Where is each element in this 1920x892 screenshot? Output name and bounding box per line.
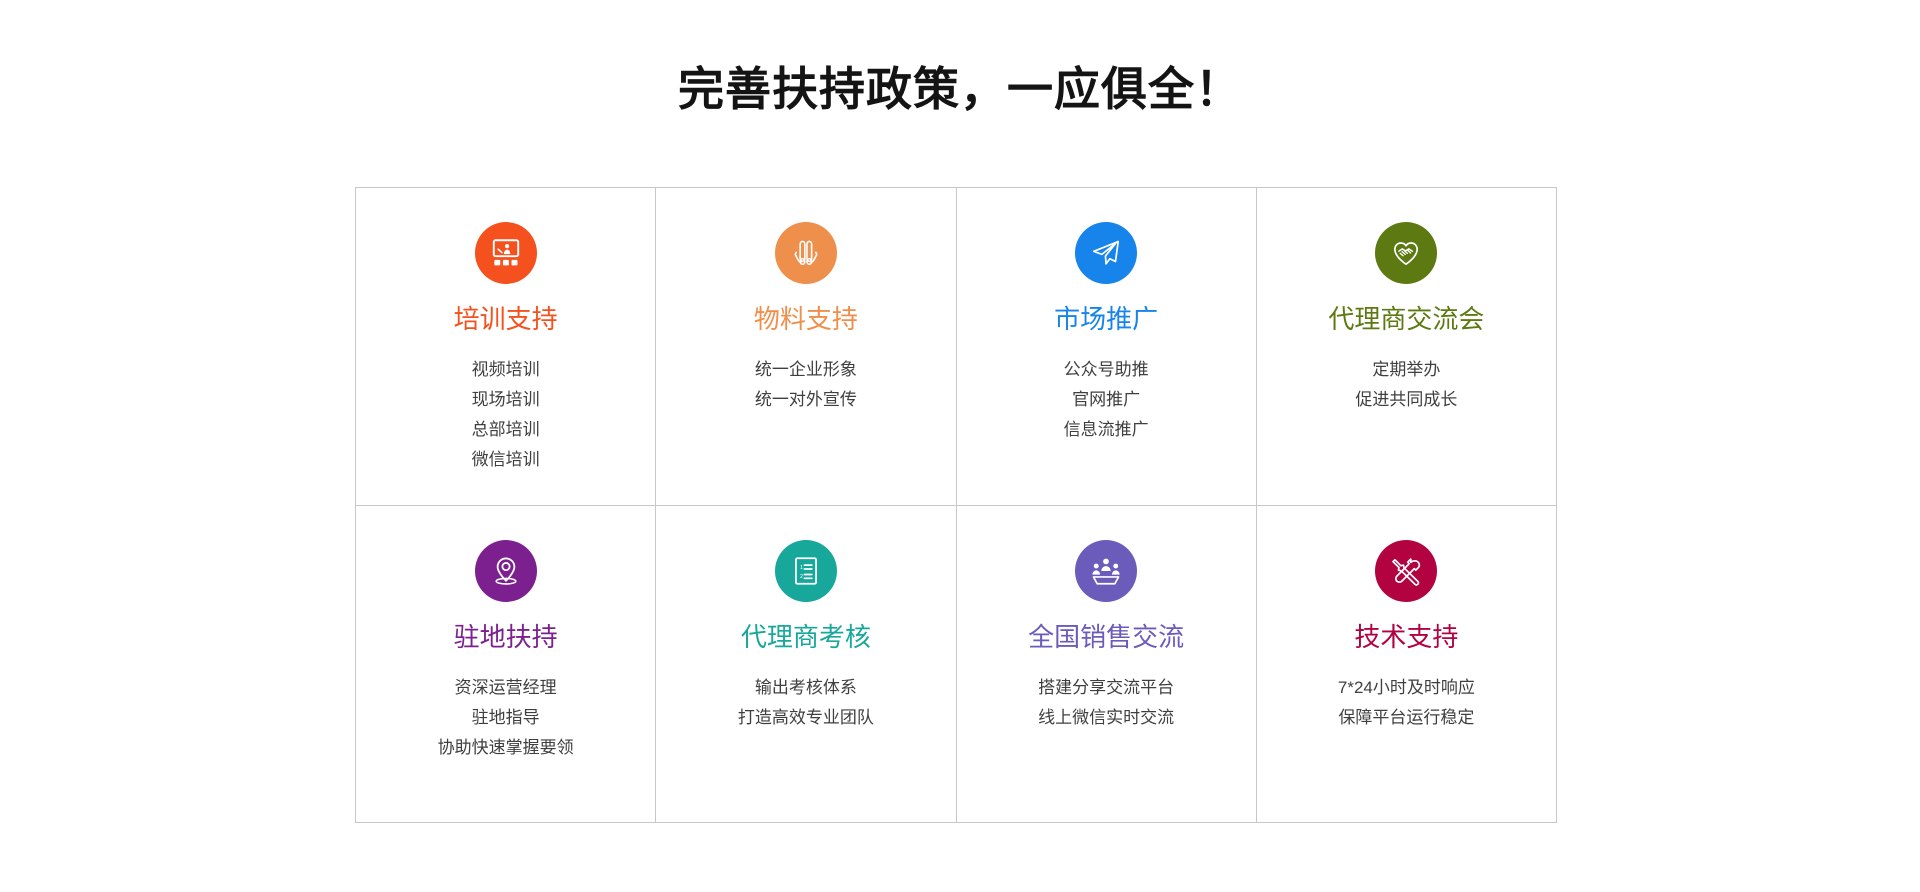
list-item: 微信培训 [472,445,540,475]
training-presentation-icon [489,236,523,270]
list-item: 官网推广 [1072,385,1140,415]
list-item: 资深运营经理 [455,673,557,703]
list-item: 统一企业形象 [755,355,857,385]
card-title: 代理商交流会 [1328,302,1484,336]
list-item: 现场培训 [472,385,540,415]
card-title: 全国销售交流 [1028,620,1184,654]
group-meeting-icon [1089,554,1123,588]
icon-badge [775,222,837,284]
support-card-assessment[interactable]: 1 2 代理商考核 输出考核体系 打造高效专业团队 [656,506,956,824]
card-title: 培训支持 [454,302,558,336]
list-item: 视频培训 [472,355,540,385]
list-item: 定期举办 [1372,355,1440,385]
list-item: 7*24小时及时响应 [1338,673,1475,703]
icon-badge [1375,540,1437,602]
list-item: 协助快速掌握要领 [438,733,574,763]
icon-badge: 1 2 [775,540,837,602]
svg-text:2: 2 [800,574,803,580]
support-card-onsite[interactable]: 驻地扶持 资深运营经理 驻地指导 协助快速掌握要领 [356,506,656,824]
card-title: 技术支持 [1354,620,1458,654]
list-item: 促进共同成长 [1355,385,1457,415]
icon-badge [475,540,537,602]
icon-badge [1075,222,1137,284]
location-pin-icon [489,554,523,588]
poster-rolls-icon [789,236,823,270]
wrench-screwdriver-icon [1389,554,1423,588]
card-item-list: 定期举办 促进共同成长 [1355,355,1457,415]
list-item: 总部培训 [472,415,540,445]
checklist-document-icon: 1 2 [789,554,823,588]
support-card-technical[interactable]: 技术支持 7*24小时及时响应 保障平台运行稳定 [1257,506,1557,824]
list-item: 线上微信实时交流 [1038,703,1174,733]
svg-text:1: 1 [800,565,803,571]
support-card-material[interactable]: 物料支持 统一企业形象 统一对外宣传 [656,188,956,506]
support-card-agent-meeting[interactable]: 代理商交流会 定期举办 促进共同成长 [1257,188,1557,506]
list-item: 打造高效专业团队 [738,703,874,733]
list-item: 搭建分享交流平台 [1038,673,1174,703]
support-card-training[interactable]: 培训支持 视频培训 现场培训 总部培训 微信培训 [356,188,656,506]
icon-badge [1375,222,1437,284]
list-item: 公众号助推 [1064,355,1149,385]
support-cards-grid: 培训支持 视频培训 现场培训 总部培训 微信培训 物料支持 [355,187,1557,823]
icon-badge [1075,540,1137,602]
handshake-heart-icon [1389,236,1423,270]
card-item-list: 统一企业形象 统一对外宣传 [755,355,857,415]
card-title: 驻地扶持 [454,620,558,654]
support-policy-section: 完善扶持政策，一应俱全！ 培训支持 视频培训 现场培训 总部培训 [0,0,1920,892]
support-card-marketing[interactable]: 市场推广 公众号助推 官网推广 信息流推广 [957,188,1257,506]
list-item: 统一对外宣传 [755,385,857,415]
support-card-national-sales[interactable]: 全国销售交流 搭建分享交流平台 线上微信实时交流 [957,506,1257,824]
list-item: 信息流推广 [1064,415,1149,445]
icon-badge [475,222,537,284]
card-item-list: 资深运营经理 驻地指导 协助快速掌握要领 [438,673,574,763]
card-item-list: 7*24小时及时响应 保障平台运行稳定 [1338,673,1475,733]
card-item-list: 公众号助推 官网推广 信息流推广 [1064,355,1149,445]
list-item: 输出考核体系 [755,673,857,703]
paper-plane-icon [1089,236,1123,270]
card-item-list: 视频培训 现场培训 总部培训 微信培训 [472,355,540,475]
card-item-list: 输出考核体系 打造高效专业团队 [738,673,874,733]
page-title: 完善扶持政策，一应俱全！ [0,58,1920,120]
list-item: 保障平台运行稳定 [1338,703,1474,733]
list-item: 驻地指导 [472,703,540,733]
card-item-list: 搭建分享交流平台 线上微信实时交流 [1038,673,1174,733]
card-title: 物料支持 [754,302,858,336]
card-title: 市场推广 [1054,302,1158,336]
card-title: 代理商考核 [741,620,871,654]
